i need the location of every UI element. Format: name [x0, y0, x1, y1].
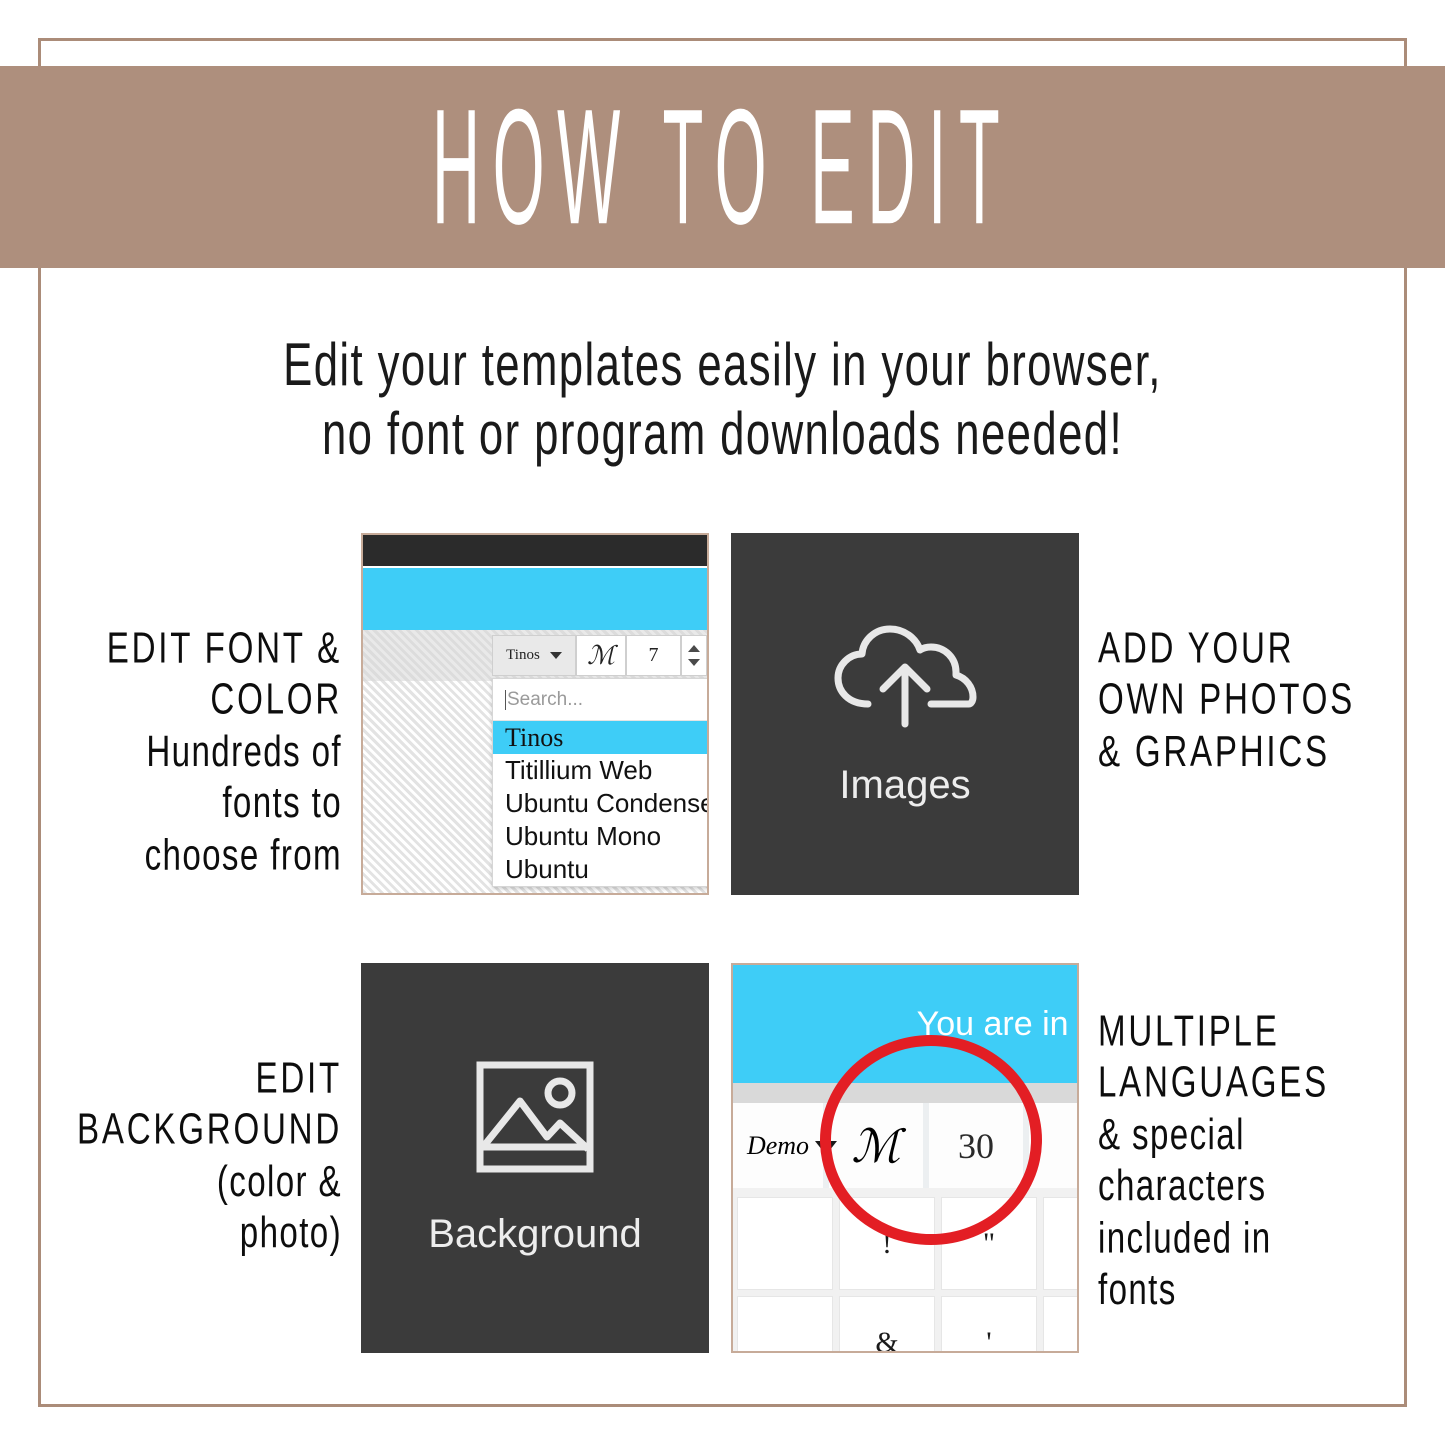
- caption-line: (color &: [46, 1156, 342, 1208]
- editor-titlebar: [363, 535, 707, 566]
- screenshot-font-editor: Tinos ℳ 7 Search... Tinos Titillium Web …: [361, 533, 709, 895]
- page-title: HOW TO EDIT: [432, 85, 1012, 249]
- caption-line: EDIT FONT &: [55, 622, 342, 674]
- glyph-key[interactable]: ": [941, 1197, 1037, 1290]
- glyph-panel-banner: You are in c: [733, 965, 1077, 1083]
- glyph-key[interactable]: ': [941, 1296, 1037, 1353]
- font-size-stepper[interactable]: [681, 635, 707, 676]
- glyph-banner-text: You are in c: [917, 1005, 1079, 1044]
- stepper-down-icon[interactable]: [688, 659, 700, 666]
- caption-line: OWN PHOTOS: [1098, 674, 1420, 726]
- glyph-grid: ! " # & ' (: [733, 1188, 1077, 1351]
- font-size-input[interactable]: 7: [626, 635, 681, 676]
- glyph-font-select[interactable]: Demo: [733, 1103, 829, 1188]
- color-swatch-button[interactable]: [707, 635, 709, 676]
- caption-line: included in: [1098, 1212, 1420, 1264]
- caption-line: characters: [1098, 1160, 1420, 1212]
- caption-line: ADD YOUR: [1098, 622, 1420, 674]
- caption-line: EDIT: [46, 1052, 342, 1104]
- glyph-row: ! " #: [733, 1197, 1077, 1290]
- header-banner: HOW TO EDIT: [0, 66, 1445, 268]
- subtitle: Edit your templates easily in your brows…: [51, 330, 1395, 468]
- glyph-font-name: Demo: [747, 1131, 809, 1161]
- font-toolbar: Tinos ℳ 7: [492, 635, 709, 676]
- glyph-key[interactable]: &: [839, 1296, 935, 1353]
- caption-line: fonts: [1098, 1264, 1420, 1316]
- images-tile-label: Images: [839, 763, 970, 808]
- caption-line: fonts to: [55, 777, 342, 829]
- editor-blue-header: [363, 568, 707, 630]
- glyph-size-input[interactable]: 30: [929, 1103, 1029, 1188]
- picture-icon: [474, 1059, 596, 1182]
- chevron-down-icon: [815, 1141, 837, 1155]
- caption-line: COLOR: [55, 674, 342, 726]
- caption-edit-background: EDIT BACKGROUND (color & photo): [20, 1052, 342, 1222]
- font-search-input[interactable]: Search...: [493, 679, 709, 721]
- caption-edit-font-color: EDIT FONT & COLOR Hundreds of fonts to c…: [30, 622, 342, 834]
- caption-line: & special: [1098, 1109, 1420, 1161]
- caption-line: choose from: [55, 829, 342, 881]
- glyph-key[interactable]: (: [1043, 1296, 1079, 1353]
- subtitle-line-1: Edit your templates easily in your brows…: [51, 330, 1395, 399]
- glyph-panel-divider: [733, 1083, 1077, 1103]
- background-tile-label: Background: [428, 1212, 641, 1257]
- glyph-sample-button[interactable]: ℳ: [829, 1103, 929, 1188]
- glyph-key[interactable]: !: [839, 1197, 935, 1290]
- font-search-placeholder: Search...: [507, 689, 583, 711]
- caption-line: & GRAPHICS: [1098, 726, 1420, 778]
- caption-multiple-languages: MULTIPLE LANGUAGES & special characters …: [1098, 1005, 1445, 1260]
- caption-line: BACKGROUND: [46, 1104, 342, 1156]
- caption-line: Hundreds of: [55, 726, 342, 778]
- chevron-down-icon: [550, 652, 562, 659]
- text-cursor-icon: [505, 690, 506, 710]
- glyph-toolbar: Demo ℳ 30: [733, 1103, 1077, 1188]
- glyph-key[interactable]: [737, 1197, 833, 1290]
- font-option-ubuntu-mono[interactable]: Ubuntu Mono: [493, 820, 709, 853]
- screenshot-images-tile: Images: [731, 533, 1079, 895]
- glyph-row: & ' (: [733, 1296, 1077, 1353]
- screenshot-background-tile: Background: [361, 963, 709, 1353]
- font-option-tinos[interactable]: Tinos: [493, 721, 709, 754]
- cloud-upload-icon: [830, 620, 980, 737]
- caption-line: MULTIPLE: [1098, 1005, 1420, 1057]
- screenshot-glyph-keyboard: You are in c Demo ℳ 30 ! " # & ' (: [731, 963, 1079, 1353]
- caption-add-photos: ADD YOUR OWN PHOTOS & GRAPHICS: [1098, 622, 1445, 749]
- glyph-key[interactable]: #: [1043, 1197, 1079, 1290]
- caption-line: photo): [46, 1207, 342, 1259]
- font-family-value: Tinos: [506, 647, 540, 664]
- subtitle-line-2: no font or program downloads needed!: [51, 399, 1395, 468]
- font-option-ubuntu[interactable]: Ubuntu: [493, 853, 709, 886]
- glyph-preview-button[interactable]: ℳ: [576, 635, 626, 676]
- font-option-titillium-web[interactable]: Titillium Web: [493, 754, 709, 787]
- font-dropdown: Search... Tinos Titillium Web Ubuntu Con…: [492, 678, 709, 887]
- font-option-ubuntu-condensed[interactable]: Ubuntu Condensed: [493, 787, 709, 820]
- caption-line: LANGUAGES: [1098, 1057, 1420, 1109]
- stepper-up-icon[interactable]: [688, 645, 700, 652]
- font-family-select[interactable]: Tinos: [492, 635, 576, 676]
- glyph-key[interactable]: [737, 1296, 833, 1353]
